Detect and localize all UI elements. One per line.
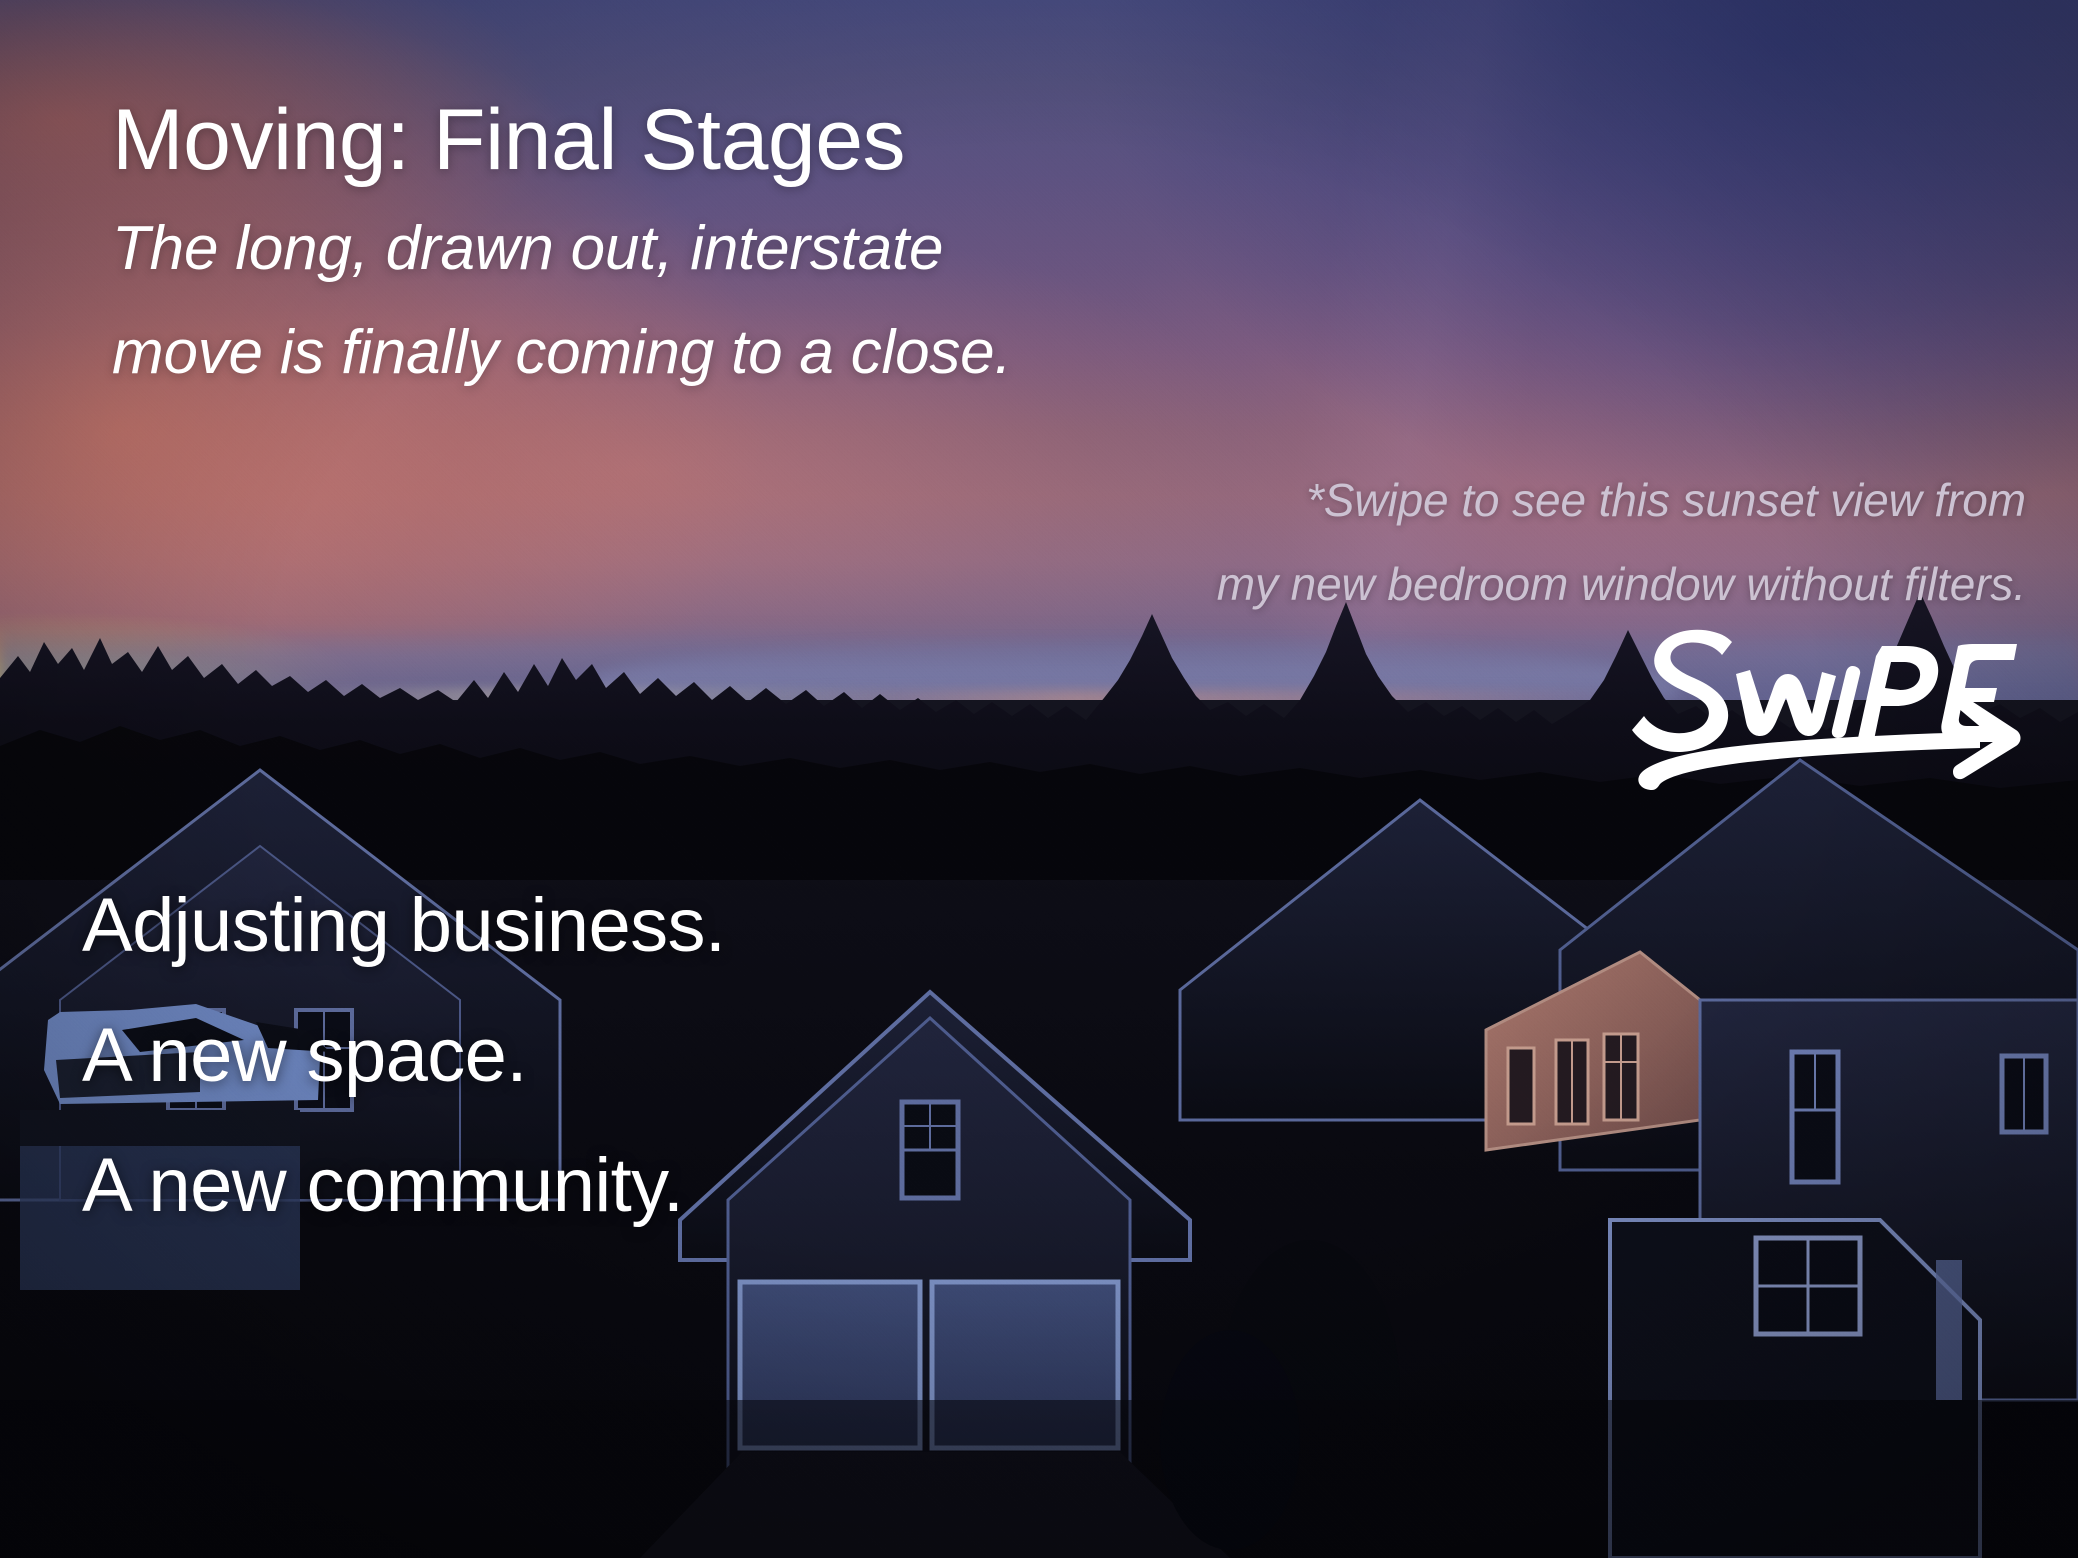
list-item: A new space. — [82, 1018, 725, 1094]
page-title: Moving: Final Stages — [112, 97, 905, 183]
list-item: Adjusting business. — [82, 888, 725, 964]
subtitle-line-2: move is finally coming to a close. — [112, 322, 1011, 384]
text-overlay-layer: Moving: Final Stages The long, drawn out… — [0, 0, 2078, 1558]
list-item: A new community. — [82, 1148, 725, 1224]
swipe-arrow-icon[interactable] — [1628, 612, 2048, 792]
bullet-list: Adjusting business. A new space. A new c… — [82, 888, 725, 1278]
swipe-annotation-line-1: *Swipe to see this sunset view from — [1306, 477, 2026, 523]
swipe-annotation-line-2: my new bedroom window without filters. — [1217, 561, 2026, 607]
subtitle-line-1: The long, drawn out, interstate — [112, 218, 943, 280]
social-post-slide: Moving: Final Stages The long, drawn out… — [0, 0, 2078, 1558]
